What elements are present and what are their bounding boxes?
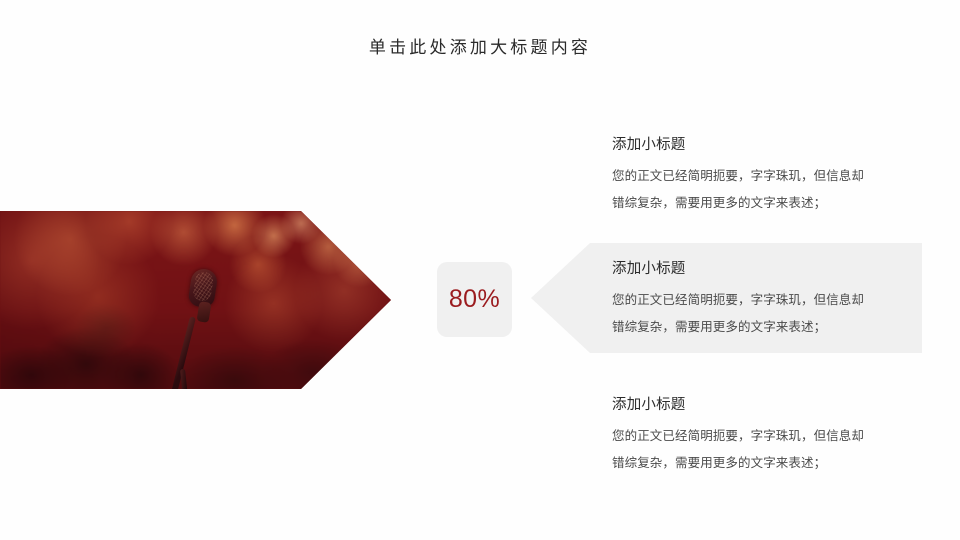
microphone-stage-photo [0,211,391,389]
text-block-bottom: 添加小标题 您的正文已经简明扼要，字字珠玑，但信息却 错综复杂，需要用更多的文字… [612,394,912,477]
text-block-body-line-2: 错综复杂，需要用更多的文字来表述； [612,190,912,217]
microphone-stem-lower [180,369,189,389]
text-block-heading: 添加小标题 [612,258,912,280]
percentage-badge: 80% [437,262,512,337]
text-block-heading: 添加小标题 [612,134,912,156]
page-title: 单击此处添加大标题内容 [0,36,960,60]
microphone-neck [197,301,212,323]
text-block-top: 添加小标题 您的正文已经简明扼要，字字珠玑，但信息却 错综复杂，需要用更多的文字… [612,134,912,217]
text-block-body-line-1: 您的正文已经简明扼要，字字珠玑，但信息却 [612,287,912,314]
text-block-body-line-2: 错综复杂，需要用更多的文字来表述； [612,314,912,341]
microphone-icon [176,269,236,389]
text-block-body-line-1: 您的正文已经简明扼要，字字珠玑，但信息却 [612,423,912,450]
text-block-body-line-1: 您的正文已经简明扼要，字字珠玑，但信息却 [612,163,912,190]
slide-canvas: 单击此处添加大标题内容 80% 添加小标题 您的正文已经简明扼要，字字珠玑，但信… [0,0,960,540]
percentage-value: 80% [449,287,500,312]
text-block-body-line-2: 错综复杂，需要用更多的文字来表述； [612,450,912,477]
text-block-middle: 添加小标题 您的正文已经简明扼要，字字珠玑，但信息却 错综复杂，需要用更多的文字… [612,258,912,341]
text-block-heading: 添加小标题 [612,394,912,416]
